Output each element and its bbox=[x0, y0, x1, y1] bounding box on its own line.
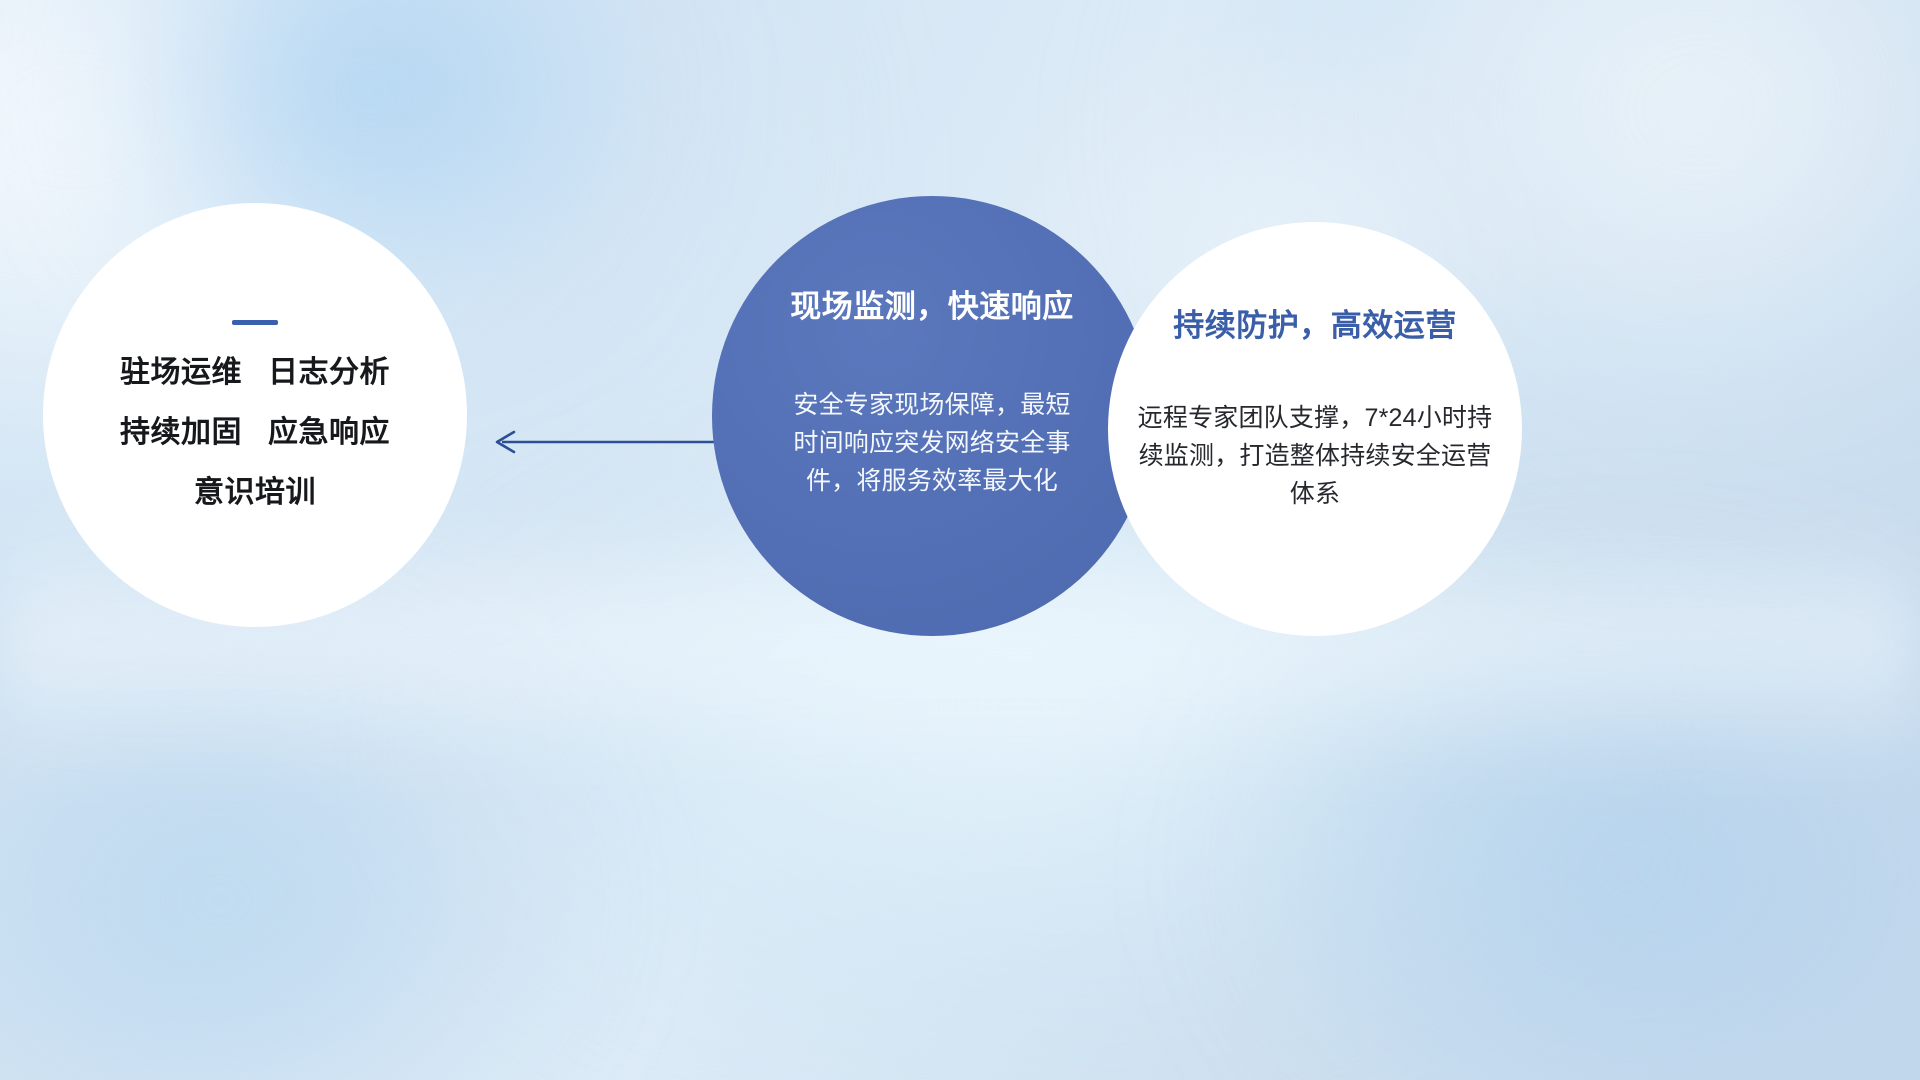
capability-circle-left[interactable]: 驻场运维日志分析 持续加固应急响应 意识培训 bbox=[43, 203, 467, 627]
capability-row-3: 意识培训 bbox=[194, 478, 316, 508]
capability-circle-right[interactable]: 持续防护，高效运营 远程专家团队支撑，7*24小时持续监测，打造整体持续安全运营… bbox=[1108, 222, 1522, 636]
circle-right-body: 远程专家团队支撑，7*24小时持续监测，打造整体持续安全运营体系 bbox=[1135, 399, 1495, 513]
circle-middle-title: 现场监测，快速响应 bbox=[790, 281, 1074, 326]
slide-canvas: 驻场运维日志分析 持续加固应急响应 意识培训 现场监测，快速响应 安全专家现场保… bbox=[0, 0, 1920, 1080]
capability-label-log-analysis: 日志分析 bbox=[268, 356, 390, 389]
capability-label-emergency-response: 应急响应 bbox=[268, 416, 390, 449]
capability-row-1: 驻场运维日志分析 bbox=[120, 358, 390, 388]
circle-right-title: 持续防护，高效运营 bbox=[1173, 300, 1457, 345]
divider-dash bbox=[232, 320, 278, 325]
capability-row-2: 持续加固应急响应 bbox=[120, 418, 390, 448]
capability-circle-middle[interactable]: 现场监测，快速响应 安全专家现场保障，最短时间响应突发网络安全事件，将服务效率最… bbox=[712, 196, 1152, 636]
capability-label-onsite-ops: 驻场运维 bbox=[120, 356, 242, 389]
capability-label-awareness-training: 意识培训 bbox=[194, 476, 316, 509]
left-pointing-arrow-icon bbox=[488, 420, 718, 464]
connector-arrow bbox=[488, 420, 718, 464]
circle-middle-body: 安全专家现场保障，最短时间响应突发网络安全事件，将服务效率最大化 bbox=[782, 386, 1082, 500]
capability-label-continuous-hardening: 持续加固 bbox=[120, 416, 242, 449]
